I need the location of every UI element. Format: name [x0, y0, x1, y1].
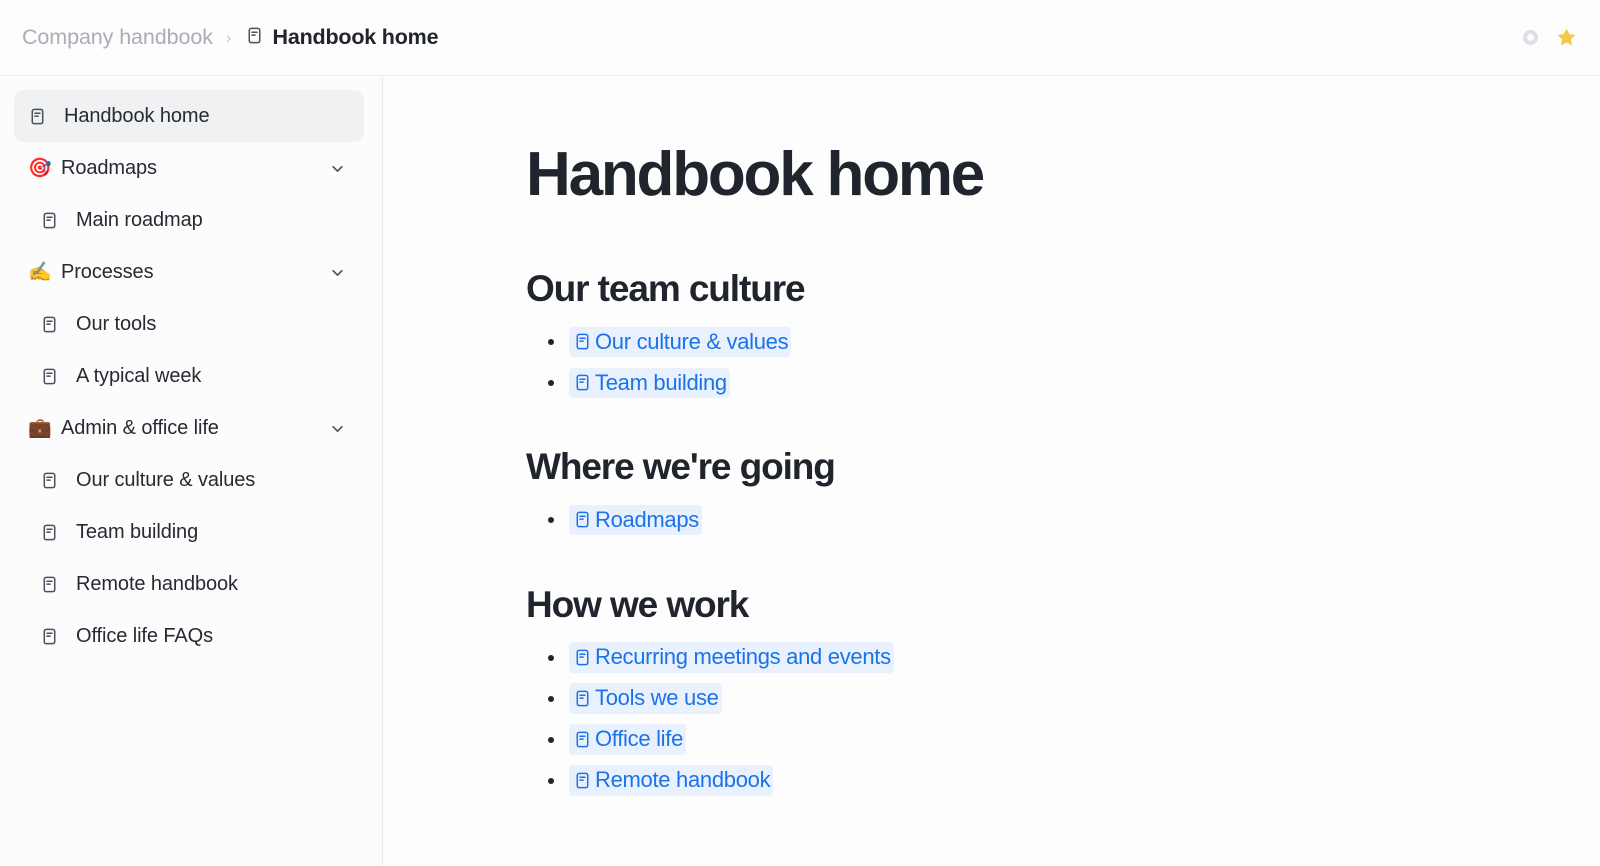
list-item: Remote handbook	[526, 762, 1423, 799]
page-icon	[573, 373, 592, 392]
chevron-down-icon[interactable]	[327, 158, 350, 179]
page-icon	[40, 575, 62, 594]
sidebar-item-label: Our culture & values	[76, 469, 255, 492]
content-section: Where we're goingRoadmaps	[526, 445, 1423, 538]
header-actions	[1523, 26, 1578, 49]
sidebar-item-roadmaps[interactable]: 🎯Roadmaps	[14, 142, 364, 194]
page-icon	[573, 730, 592, 749]
sidebar-item-emoji-icon: 💼	[28, 419, 54, 438]
sidebar-item-label: Handbook home	[64, 105, 209, 128]
list-item: Roadmaps	[526, 502, 1423, 539]
breadcrumb-root-link[interactable]: Company handbook	[22, 25, 213, 50]
page-icon	[573, 648, 592, 667]
section-heading: Our team culture	[526, 267, 1423, 311]
page-link-our-culture-values[interactable]: Our culture & values	[569, 327, 791, 357]
page-link-label: Office life	[595, 726, 683, 751]
page-link-label: Tools we use	[595, 685, 719, 710]
list-item: Our culture & values	[526, 323, 1423, 360]
page-icon	[28, 107, 50, 126]
favorite-star-icon[interactable]	[1555, 26, 1578, 49]
sidebar-item-label: A typical week	[76, 365, 201, 388]
breadcrumb-current-label: Handbook home	[273, 25, 439, 50]
page-link-label: Our culture & values	[595, 329, 788, 354]
page-icon	[40, 211, 62, 230]
sidebar-item-emoji-icon: ✍️	[28, 263, 54, 282]
sidebar: Handbook home🎯RoadmapsMain roadmap✍️Proc…	[0, 76, 383, 866]
sidebar-item-label: Our tools	[76, 313, 156, 336]
page-link-label: Roadmaps	[595, 507, 699, 532]
page-link-label: Remote handbook	[595, 767, 770, 792]
page-link-list: Our culture & valuesTeam building	[526, 323, 1423, 401]
chevron-down-icon[interactable]	[327, 418, 350, 439]
page-icon	[573, 510, 592, 529]
sidebar-item-label: Office life FAQs	[76, 625, 213, 648]
list-item: Recurring meetings and events	[526, 639, 1423, 676]
list-item: Office life	[526, 721, 1423, 758]
sidebar-item-admin-office-life[interactable]: 💼Admin & office life	[14, 402, 364, 454]
sidebar-item-processes[interactable]: ✍️Processes	[14, 246, 364, 298]
content-section: How we workRecurring meetings and events…	[526, 583, 1423, 799]
sidebar-item-handbook-home[interactable]: Handbook home	[14, 90, 364, 142]
section-heading: How we work	[526, 583, 1423, 627]
breadcrumb-current-item[interactable]: Handbook home	[245, 25, 439, 50]
section-heading: Where we're going	[526, 445, 1423, 489]
page-icon	[573, 771, 592, 790]
list-item: Tools we use	[526, 680, 1423, 717]
sidebar-item-label: Admin & office life	[61, 417, 219, 440]
page-title: Handbook home	[526, 142, 1423, 209]
page-link-list: Roadmaps	[526, 502, 1423, 539]
page-icon	[40, 471, 62, 490]
sidebar-item-label: Main roadmap	[76, 209, 203, 232]
page-link-tools-we-use[interactable]: Tools we use	[569, 683, 722, 713]
page-link-office-life[interactable]: Office life	[569, 724, 686, 754]
page-link-recurring-meetings-and-events[interactable]: Recurring meetings and events	[569, 642, 894, 672]
sidebar-item-our-culture-values[interactable]: Our culture & values	[14, 454, 364, 506]
document: Handbook home Our team cultureOur cultur…	[383, 76, 1423, 799]
page-link-label: Recurring meetings and events	[595, 644, 891, 669]
page-link-roadmaps[interactable]: Roadmaps	[569, 505, 702, 535]
sidebar-item-emoji-icon: 🎯	[28, 159, 54, 178]
page-icon	[40, 367, 62, 386]
breadcrumb-separator-icon: ›	[226, 29, 232, 46]
breadcrumb: Company handbook › Handbook home	[22, 25, 1523, 50]
sidebar-item-label: Roadmaps	[61, 157, 157, 180]
page-icon	[245, 26, 264, 50]
page-icon	[40, 523, 62, 542]
comment-status-ring-icon[interactable]	[1523, 30, 1538, 45]
top-bar: Company handbook › Handbook home	[0, 0, 1600, 76]
page-icon	[573, 689, 592, 708]
sidebar-item-team-building[interactable]: Team building	[14, 506, 364, 558]
sidebar-item-our-tools[interactable]: Our tools	[14, 298, 364, 350]
sidebar-item-remote-handbook[interactable]: Remote handbook	[14, 558, 364, 610]
content-section: Our team cultureOur culture & valuesTeam…	[526, 267, 1423, 401]
main-content: Handbook home Our team cultureOur cultur…	[383, 76, 1600, 866]
page-icon	[40, 627, 62, 646]
list-item: Team building	[526, 364, 1423, 401]
body: Handbook home🎯RoadmapsMain roadmap✍️Proc…	[0, 76, 1600, 866]
page-link-team-building[interactable]: Team building	[569, 368, 730, 398]
page-icon	[40, 315, 62, 334]
page-icon	[573, 332, 592, 351]
sidebar-item-label: Team building	[76, 521, 198, 544]
page-link-remote-handbook[interactable]: Remote handbook	[569, 765, 773, 795]
app-root: Company handbook › Handbook home	[0, 0, 1600, 866]
sidebar-item-label: Remote handbook	[76, 573, 238, 596]
sidebar-item-office-life-faqs[interactable]: Office life FAQs	[14, 610, 364, 662]
sidebar-item-main-roadmap[interactable]: Main roadmap	[14, 194, 364, 246]
page-link-label: Team building	[595, 370, 727, 395]
chevron-down-icon[interactable]	[327, 262, 350, 283]
page-link-list: Recurring meetings and eventsTools we us…	[526, 639, 1423, 799]
sidebar-item-label: Processes	[61, 261, 153, 284]
sidebar-item-a-typical-week[interactable]: A typical week	[14, 350, 364, 402]
document-sections: Our team cultureOur culture & valuesTeam…	[526, 267, 1423, 799]
